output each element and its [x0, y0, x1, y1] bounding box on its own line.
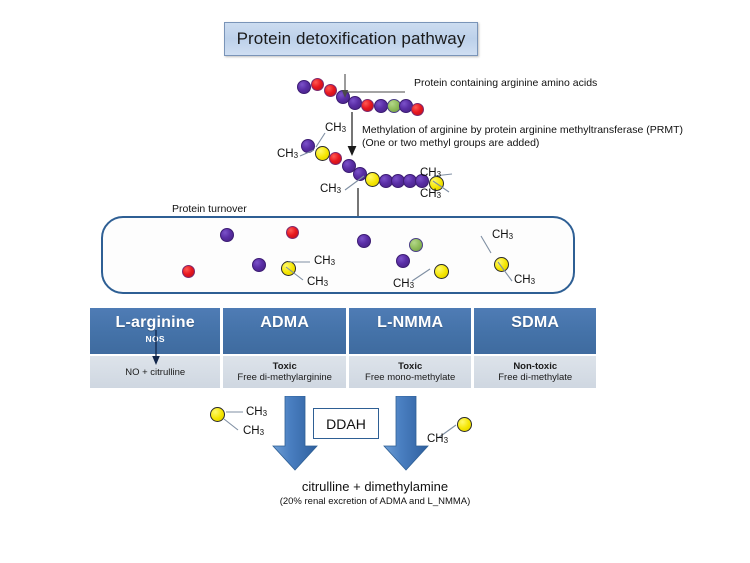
bottom-product-note: (20% renal excretion of ADMA and L_NMMA): [0, 496, 750, 507]
nmma-molecule-bead: [457, 417, 472, 432]
ddah-enzyme-box: DDAH: [313, 408, 379, 439]
bottom-left-methyl-label-2: CH3: [243, 425, 264, 437]
ddah-arrow-right: [383, 396, 433, 472]
diagram-canvas: Protein detoxification pathway Protein c…: [0, 0, 750, 563]
bottom-product-label: citrulline + dimethylamine: [0, 479, 750, 494]
bottom-left-methyl-label-1: CH3: [246, 406, 267, 418]
ddah-label: DDAH: [326, 416, 366, 432]
